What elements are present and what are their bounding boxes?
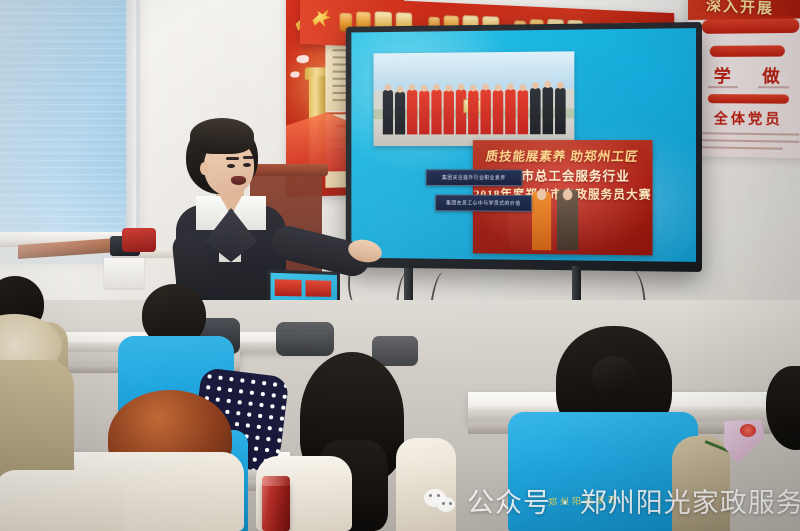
wechat-icon — [424, 487, 458, 515]
rose-bud — [740, 424, 756, 437]
slide-photo-group — [374, 51, 575, 146]
slide-caption-1: 集团关注提升行业职业素养 — [426, 169, 523, 186]
presenter-hair-fringe — [190, 118, 254, 154]
wall-display-tv: 质技能展素养 助郑州工匠 郑州市总工会服务行业 2018年度郑州市家政服务员大赛… — [346, 22, 702, 272]
wall-paper-notice — [104, 258, 144, 288]
watermark-text: 公众号 · 郑州阳光家政服务公司 — [467, 481, 800, 520]
presenter-eyebrow-left — [226, 157, 239, 160]
presenter-mouth — [231, 176, 246, 185]
presenter-eye-right — [243, 163, 251, 167]
tv-screen: 质技能展素养 助郑州工匠 郑州市总工会服务行业 2018年度郑州市家政服务员大赛… — [351, 28, 696, 262]
presenter-eyebrow-right — [243, 156, 254, 159]
stage-person-right-head — [563, 189, 573, 200]
attendee-blue-vest-2-bun — [592, 356, 636, 396]
red-thermos-cap — [262, 476, 290, 486]
stage-banner-line-1: 质技能展素养 助郑州工匠 — [473, 146, 653, 165]
photograph-classroom-training: 学 做 全体党员 深入开展 — [0, 0, 800, 531]
presenter-eye-left — [227, 164, 235, 168]
slide-caption-2: 集团在员工心中与学员式的价值 — [435, 195, 532, 212]
attendee-front-left-coat — [0, 470, 124, 531]
handbag-red — [122, 228, 156, 252]
chair-back-2 — [276, 322, 334, 356]
presenter-ear — [200, 162, 209, 175]
watermark: 公众号 · 郑州阳光家政服务公司 — [424, 481, 800, 520]
stage-person-center-head — [537, 189, 547, 200]
red-thermos-flask — [262, 480, 290, 531]
